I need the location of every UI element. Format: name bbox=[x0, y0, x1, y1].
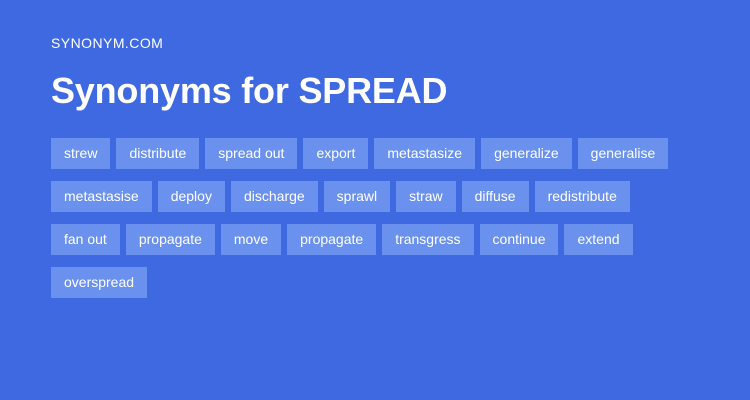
synonym-tag[interactable]: straw bbox=[396, 181, 455, 212]
synonym-tag[interactable]: discharge bbox=[231, 181, 318, 212]
synonym-tag[interactable]: diffuse bbox=[462, 181, 529, 212]
synonym-tag[interactable]: strew bbox=[51, 138, 110, 169]
page-content: SYNONYM.COM Synonyms for SPREAD strewdis… bbox=[51, 0, 720, 298]
site-brand: SYNONYM.COM bbox=[51, 0, 720, 52]
synonym-tag[interactable]: propagate bbox=[126, 224, 215, 255]
synonym-tag[interactable]: deploy bbox=[158, 181, 225, 212]
synonym-tag[interactable]: continue bbox=[480, 224, 559, 255]
synonym-tag[interactable]: distribute bbox=[116, 138, 199, 169]
synonym-tag[interactable]: move bbox=[221, 224, 281, 255]
synonym-tag[interactable]: spread out bbox=[205, 138, 297, 169]
synonym-tag[interactable]: sprawl bbox=[324, 181, 390, 212]
synonym-list: strewdistributespread outexportmetastasi… bbox=[51, 138, 681, 298]
synonym-tag[interactable]: metastasize bbox=[374, 138, 475, 169]
synonym-tag[interactable]: propagate bbox=[287, 224, 376, 255]
synonyms-page: SYNONYM.COM Synonyms for SPREAD strewdis… bbox=[0, 0, 750, 400]
synonym-tag[interactable]: redistribute bbox=[535, 181, 630, 212]
synonym-tag[interactable]: export bbox=[303, 138, 368, 169]
synonym-tag[interactable]: extend bbox=[564, 224, 632, 255]
synonym-tag[interactable]: transgress bbox=[382, 224, 473, 255]
page-title: Synonyms for SPREAD bbox=[51, 52, 720, 112]
synonym-tag[interactable]: fan out bbox=[51, 224, 120, 255]
synonym-tag[interactable]: generalise bbox=[578, 138, 669, 169]
synonym-tag[interactable]: generalize bbox=[481, 138, 572, 169]
synonym-tag[interactable]: metastasise bbox=[51, 181, 152, 212]
synonym-tag[interactable]: overspread bbox=[51, 267, 147, 298]
